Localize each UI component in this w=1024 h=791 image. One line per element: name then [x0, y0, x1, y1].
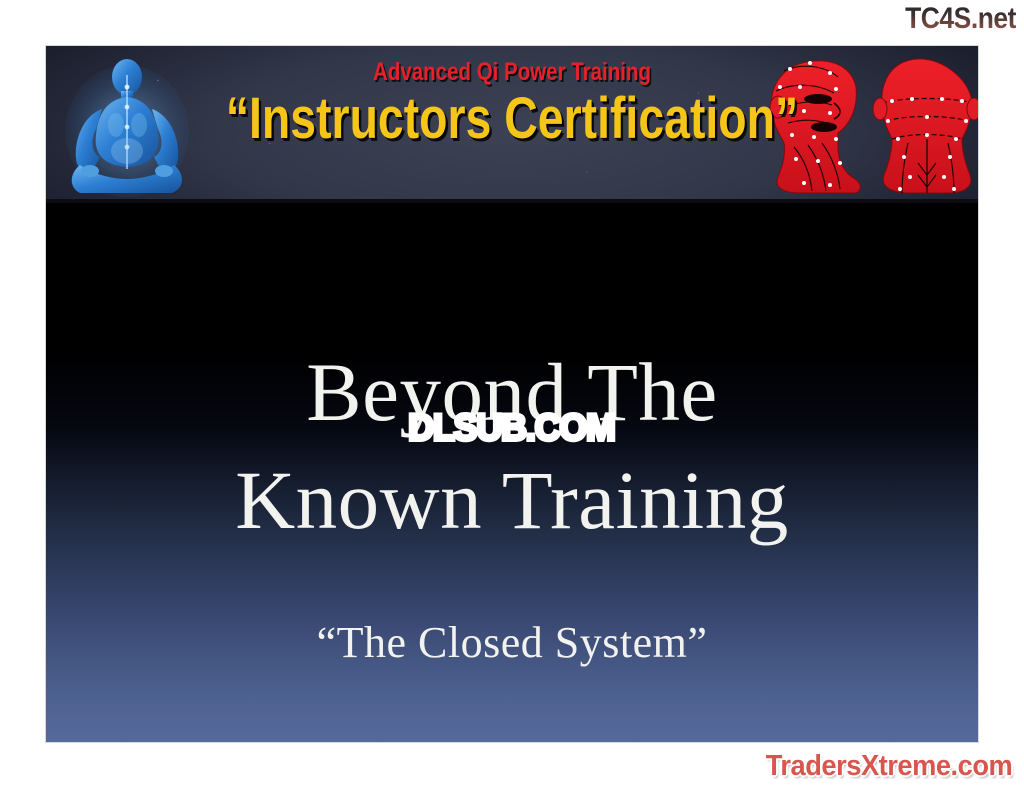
tradersxtreme-watermark: TradersXtreme.com: [765, 750, 1012, 783]
slide-subtitle: “The Closed System”: [86, 616, 938, 670]
tc4s-watermark: TC4S.net: [905, 2, 1016, 36]
slide-header-banner: Advanced Qi Power Training “Instructors …: [46, 46, 978, 203]
presentation-slide: Advanced Qi Power Training “Instructors …: [46, 46, 978, 742]
banner-bottom-edge: [46, 199, 978, 203]
banner-headline-advanced-qi: Advanced Qi Power Training: [130, 58, 894, 87]
banner-headline-instructors-certification: “Instructors Certification”: [139, 90, 885, 148]
slide-title: Beyond The Known Training: [86, 338, 938, 554]
